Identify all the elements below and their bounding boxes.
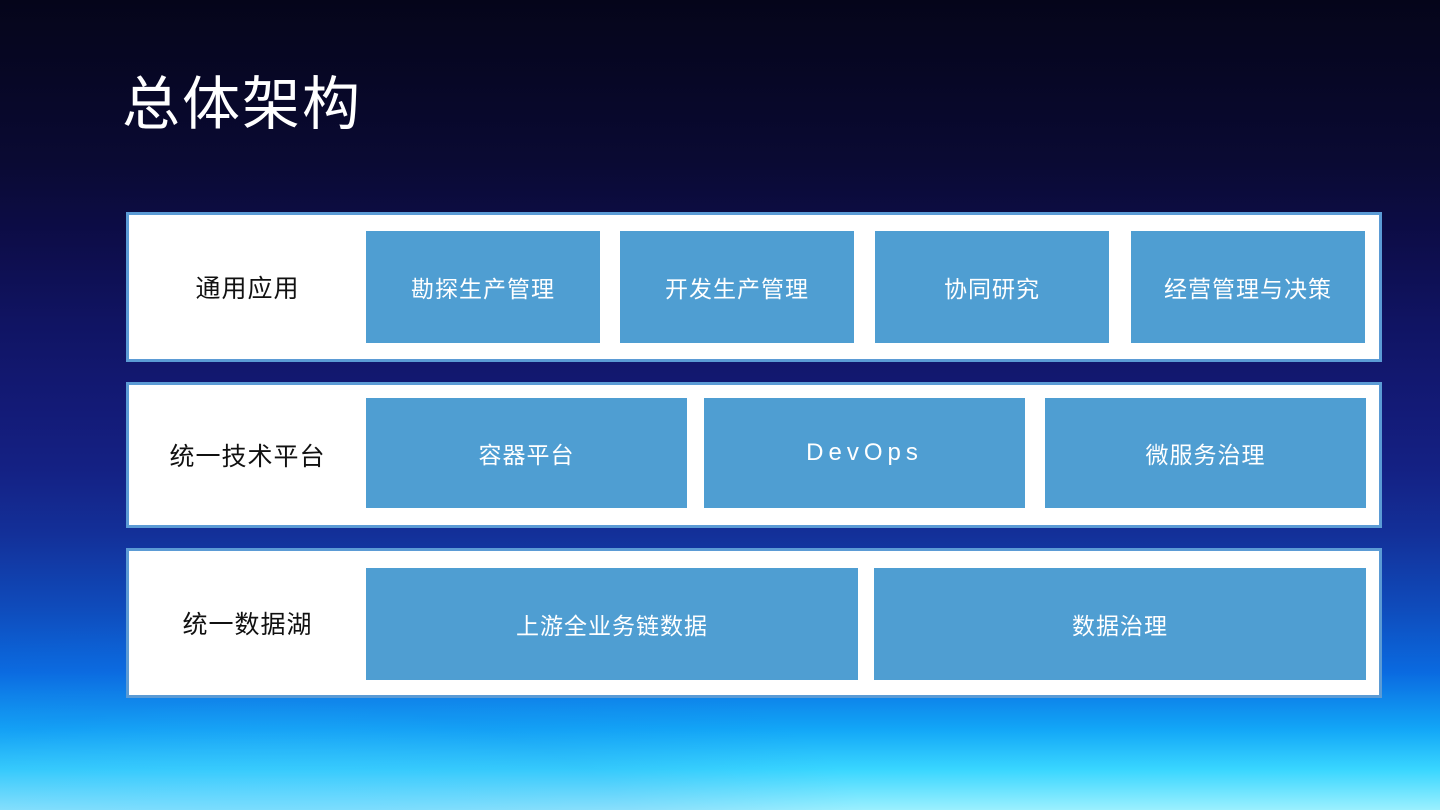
slide-canvas: 总体架构 通用应用 勘探生产管理 开发生产管理 协同研究 经营管理与决策 统一技… bbox=[0, 0, 1440, 810]
architecture-layer-row: 统一数据湖 上游全业务链数据 数据治理 bbox=[126, 548, 1382, 698]
component-box-devops[interactable]: DevOps bbox=[704, 398, 1025, 508]
component-box-collaborative-research[interactable]: 协同研究 bbox=[875, 231, 1109, 343]
page-title: 总体架构 bbox=[122, 76, 362, 134]
component-box-development-production-management[interactable]: 开发生产管理 bbox=[620, 231, 854, 343]
layer-label-unified-technology-platform: 统一技术平台 bbox=[129, 437, 366, 473]
architecture-layer-row: 统一技术平台 容器平台 DevOps 微服务治理 bbox=[126, 382, 1382, 528]
layer-box-group: 勘探生产管理 开发生产管理 协同研究 经营管理与决策 bbox=[366, 215, 1379, 359]
component-box-microservice-governance[interactable]: 微服务治理 bbox=[1045, 398, 1366, 508]
layer-label-unified-data-lake: 统一数据湖 bbox=[129, 605, 366, 641]
component-box-data-governance[interactable]: 数据治理 bbox=[874, 568, 1366, 680]
layer-box-group: 上游全业务链数据 数据治理 bbox=[366, 551, 1379, 695]
layer-label-common-applications: 通用应用 bbox=[129, 269, 366, 305]
component-box-upstream-full-value-chain-data[interactable]: 上游全业务链数据 bbox=[366, 568, 858, 680]
component-box-business-management-decision[interactable]: 经营管理与决策 bbox=[1131, 231, 1365, 343]
architecture-layer-row: 通用应用 勘探生产管理 开发生产管理 协同研究 经营管理与决策 bbox=[126, 212, 1382, 362]
component-box-container-platform[interactable]: 容器平台 bbox=[366, 398, 687, 508]
component-box-exploration-production-management[interactable]: 勘探生产管理 bbox=[366, 231, 600, 343]
layer-box-group: 容器平台 DevOps 微服务治理 bbox=[366, 385, 1379, 525]
